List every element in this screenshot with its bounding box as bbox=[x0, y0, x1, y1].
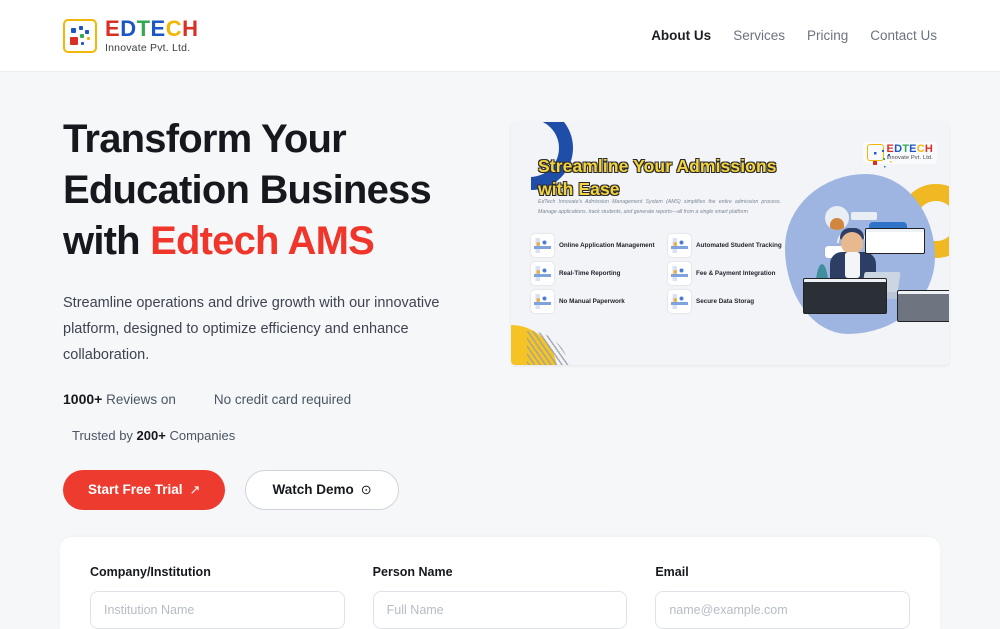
watch-demo-label: Watch Demo bbox=[272, 482, 353, 497]
logo-letter: H bbox=[925, 144, 933, 155]
feature-label: Fee & Payment Integration bbox=[696, 269, 775, 278]
brand-logo[interactable]: E D T E C H Innovate Pvt. Ltd. bbox=[63, 18, 199, 54]
logo-letter: C bbox=[917, 144, 925, 155]
trusted-suffix: Companies bbox=[166, 428, 235, 443]
banner-title-line-1: Streamline Your Admissions bbox=[538, 156, 777, 176]
reviews-label: Reviews on bbox=[106, 392, 176, 407]
application-icon bbox=[531, 234, 554, 257]
logo-tagline: Innovate Pvt. Ltd. bbox=[105, 43, 199, 54]
feature-item: Online Application Management bbox=[531, 234, 662, 257]
reviews-stat: 1000+ Reviews on bbox=[63, 391, 176, 407]
tracking-icon bbox=[668, 234, 691, 257]
watch-demo-button[interactable]: Watch Demo ⊙ bbox=[245, 470, 398, 510]
email-input[interactable] bbox=[655, 591, 910, 629]
company-field-label: Company/Institution bbox=[90, 565, 345, 579]
main-navigation: About Us Services Pricing Contact Us bbox=[651, 28, 937, 43]
email-field-label: Email bbox=[655, 565, 910, 579]
logo-name: E D T E C H bbox=[105, 18, 199, 40]
banner-logo-name: E D T E C H bbox=[887, 144, 933, 155]
payment-icon bbox=[668, 262, 691, 285]
play-circle-icon: ⊙ bbox=[361, 482, 372, 498]
feature-label: No Manual Paperwork bbox=[559, 297, 625, 306]
person-name-field-label: Person Name bbox=[373, 565, 628, 579]
logo-letter: T bbox=[902, 144, 909, 155]
headline-line-1: Transform Your bbox=[63, 117, 346, 161]
start-free-trial-label: Start Free Trial bbox=[88, 482, 183, 497]
logo-mark-icon bbox=[63, 19, 97, 53]
person-name-input[interactable] bbox=[373, 591, 628, 629]
logo-letter: D bbox=[120, 18, 136, 40]
logo-mark-icon bbox=[867, 144, 884, 161]
feature-label: Secure Data Storag bbox=[696, 297, 754, 306]
agent-head bbox=[841, 232, 863, 254]
feature-item: Real-Time Reporting bbox=[531, 262, 662, 285]
nav-item-pricing[interactable]: Pricing bbox=[807, 28, 848, 43]
nav-item-contact-us[interactable]: Contact Us bbox=[870, 28, 937, 43]
hero-section: Transform Your Education Business with E… bbox=[0, 72, 1000, 510]
feature-item: Secure Data Storag bbox=[668, 290, 799, 313]
banner-title: Streamline Your Admissions with Ease bbox=[538, 155, 838, 201]
dashboard-screenshot bbox=[865, 228, 925, 254]
headline-line-2: Education Business bbox=[63, 168, 431, 212]
signup-form-card: Company/Institution Person Name Email bbox=[60, 537, 940, 629]
hero-content: Transform Your Education Business with E… bbox=[63, 114, 493, 510]
hero-visual: Streamline Your Admissions with Ease EdT… bbox=[511, 114, 949, 510]
hero-subtitle: Streamline operations and drive growth w… bbox=[63, 290, 445, 369]
company-input[interactable] bbox=[90, 591, 345, 629]
banner-logo-tagline: Innovate Pvt. Ltd. bbox=[887, 156, 933, 162]
email-field-group: Email bbox=[655, 565, 910, 629]
agent-shirt bbox=[845, 252, 860, 278]
logo-letter: H bbox=[182, 18, 198, 40]
contact-avatar-icon bbox=[825, 206, 849, 230]
reporting-icon bbox=[531, 262, 554, 285]
feature-label: Online Application Management bbox=[559, 241, 655, 250]
page-title: Transform Your Education Business with E… bbox=[63, 114, 493, 268]
dashboard-screenshot bbox=[803, 278, 887, 314]
logo-letter: E bbox=[151, 18, 166, 40]
banner-feature-list: Online Application Management Automated … bbox=[531, 234, 799, 313]
headline-accent: Edtech AMS bbox=[150, 219, 374, 263]
banner-logo-text: E D T E C H Innovate Pvt. Ltd. bbox=[887, 144, 933, 162]
person-name-field-group: Person Name bbox=[373, 565, 628, 629]
avatar-chip-decoration bbox=[851, 212, 877, 220]
trusted-count: 200+ bbox=[137, 428, 166, 443]
striped-decoration bbox=[527, 331, 569, 365]
banner-title-line-2: with Ease bbox=[538, 179, 620, 199]
feature-label: Real-Time Reporting bbox=[559, 269, 620, 278]
site-header: E D T E C H Innovate Pvt. Ltd. About Us … bbox=[0, 0, 1000, 72]
feature-item: Fee & Payment Integration bbox=[668, 262, 799, 285]
banner-description: EdTech Innovate's Admission Management S… bbox=[538, 198, 781, 217]
logo-letter: T bbox=[137, 18, 151, 40]
feature-label: Automated Student Tracking bbox=[696, 241, 782, 250]
nav-item-services[interactable]: Services bbox=[733, 28, 785, 43]
arrow-up-right-icon: ↗ bbox=[190, 482, 201, 498]
hero-stats: 1000+ Reviews on No credit card required bbox=[63, 391, 493, 407]
logo-letter: C bbox=[166, 18, 182, 40]
paperwork-icon bbox=[531, 290, 554, 313]
support-agent-illustration bbox=[797, 194, 927, 324]
nav-item-about-us[interactable]: About Us bbox=[651, 28, 711, 43]
headline-line-3-prefix: with bbox=[63, 219, 150, 263]
start-free-trial-button[interactable]: Start Free Trial ↗ bbox=[63, 470, 225, 510]
security-icon bbox=[668, 290, 691, 313]
logo-letter: E bbox=[909, 144, 917, 155]
reviews-count: 1000+ bbox=[63, 391, 102, 407]
logo-letter: E bbox=[105, 18, 120, 40]
banner-brand-logo: E D T E C H Innovate Pvt. Ltd. bbox=[863, 142, 937, 164]
promo-banner-image: Streamline Your Admissions with Ease EdT… bbox=[511, 122, 949, 365]
logo-letter: D bbox=[894, 144, 902, 155]
trusted-prefix: Trusted by bbox=[72, 428, 137, 443]
trusted-by-note: Trusted by 200+ Companies bbox=[72, 428, 493, 443]
dashboard-screenshot bbox=[897, 290, 949, 322]
no-credit-card-note: No credit card required bbox=[214, 392, 351, 407]
feature-item: No Manual Paperwork bbox=[531, 290, 662, 313]
cta-buttons: Start Free Trial ↗ Watch Demo ⊙ bbox=[63, 470, 493, 510]
logo-text: E D T E C H Innovate Pvt. Ltd. bbox=[105, 18, 199, 54]
company-field-group: Company/Institution bbox=[90, 565, 345, 629]
feature-item: Automated Student Tracking bbox=[668, 234, 799, 257]
